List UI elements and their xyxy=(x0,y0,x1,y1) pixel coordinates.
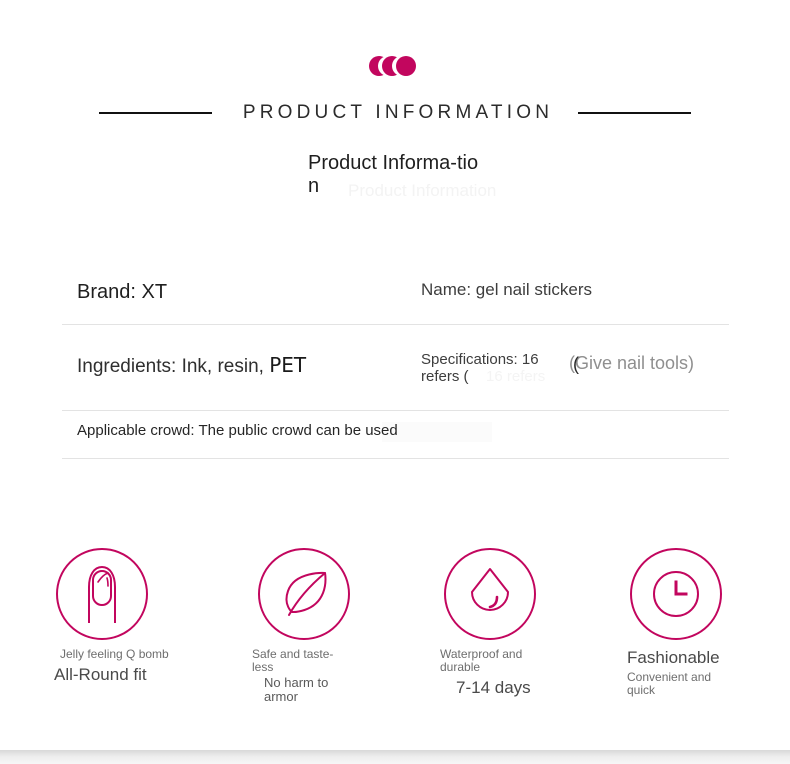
subtitle-ghost-text: Product Information xyxy=(348,180,496,202)
three-overlapping-circles-logo-icon xyxy=(369,52,421,78)
clock-icon xyxy=(630,548,722,640)
logo-circle-3 xyxy=(396,56,416,76)
ingredients-text: Ingredients: Ink, resin, xyxy=(77,356,269,377)
give-nail-tools-note: (Give nail tools) xyxy=(569,353,694,374)
feature-item-all-round-fit: Jelly feeling Q bomb All-Round fit xyxy=(20,548,206,685)
product-information-page: PRODUCT INFORMATION Product Informa-tion… xyxy=(0,0,790,764)
feature-text: Waterproof and durable 7-14 days xyxy=(436,648,544,698)
subtitle-block: Product Informa-tion Product Information xyxy=(308,152,488,198)
fingernail-icon xyxy=(56,548,148,640)
table-row: Ingredients: Ink, resin, PET Specificati… xyxy=(62,325,729,411)
heading-rule-left xyxy=(99,112,212,114)
feature-text: Safe and taste-less No harm to armor xyxy=(248,648,348,704)
feature-title: 7-14 days xyxy=(456,678,540,698)
heading-rule-right xyxy=(578,112,691,114)
brand-logo xyxy=(0,52,790,86)
table-row: Applicable crowd: The public crowd can b… xyxy=(62,411,729,459)
feature-text: Fashionable Convenient and quick xyxy=(623,648,731,697)
brand-value: Brand: XT xyxy=(77,281,167,304)
feature-text: Jelly feeling Q bomb All-Round fit xyxy=(56,648,206,685)
feature-subtitle: Convenient and quick xyxy=(627,671,727,697)
feature-title: All-Round fit xyxy=(54,665,202,685)
applicable-crowd-ghost xyxy=(382,422,492,442)
feature-subtitle: Jelly feeling Q bomb xyxy=(60,648,202,661)
feature-item-no-harm: Safe and taste-less No harm to armor xyxy=(211,548,397,704)
water-drop-icon xyxy=(444,548,536,640)
section-heading: PRODUCT INFORMATION xyxy=(0,98,790,128)
specification-table: Brand: XT Name: gel nail stickers Ingred… xyxy=(62,268,729,459)
ingredients-material: PET xyxy=(269,353,306,377)
feature-subtitle: Waterproof and durable xyxy=(440,648,540,674)
feature-subtitle: Safe and taste-less xyxy=(252,648,344,674)
specifications-ghost-text: 16 refers xyxy=(486,368,545,385)
leaf-icon xyxy=(258,548,350,640)
bottom-gradient-band xyxy=(0,750,790,764)
feature-item-fashionable: Fashionable Convenient and quick xyxy=(583,548,769,697)
feature-item-waterproof: Waterproof and durable 7-14 days xyxy=(397,548,583,698)
feature-title: No harm to armor xyxy=(264,676,344,704)
product-name-value: Name: gel nail stickers xyxy=(421,280,592,300)
give-nail-tools-paren: ( xyxy=(573,354,579,375)
feature-title: Fashionable xyxy=(627,648,727,668)
table-row: Brand: XT Name: gel nail stickers xyxy=(62,268,729,325)
section-title: PRODUCT INFORMATION xyxy=(243,102,553,124)
ingredients-value: Ingredients: Ink, resin, PET xyxy=(77,353,306,378)
applicable-crowd-value: Applicable crowd: The public crowd can b… xyxy=(77,422,398,439)
feature-list: Jelly feeling Q bomb All-Round fit Safe … xyxy=(0,548,790,713)
